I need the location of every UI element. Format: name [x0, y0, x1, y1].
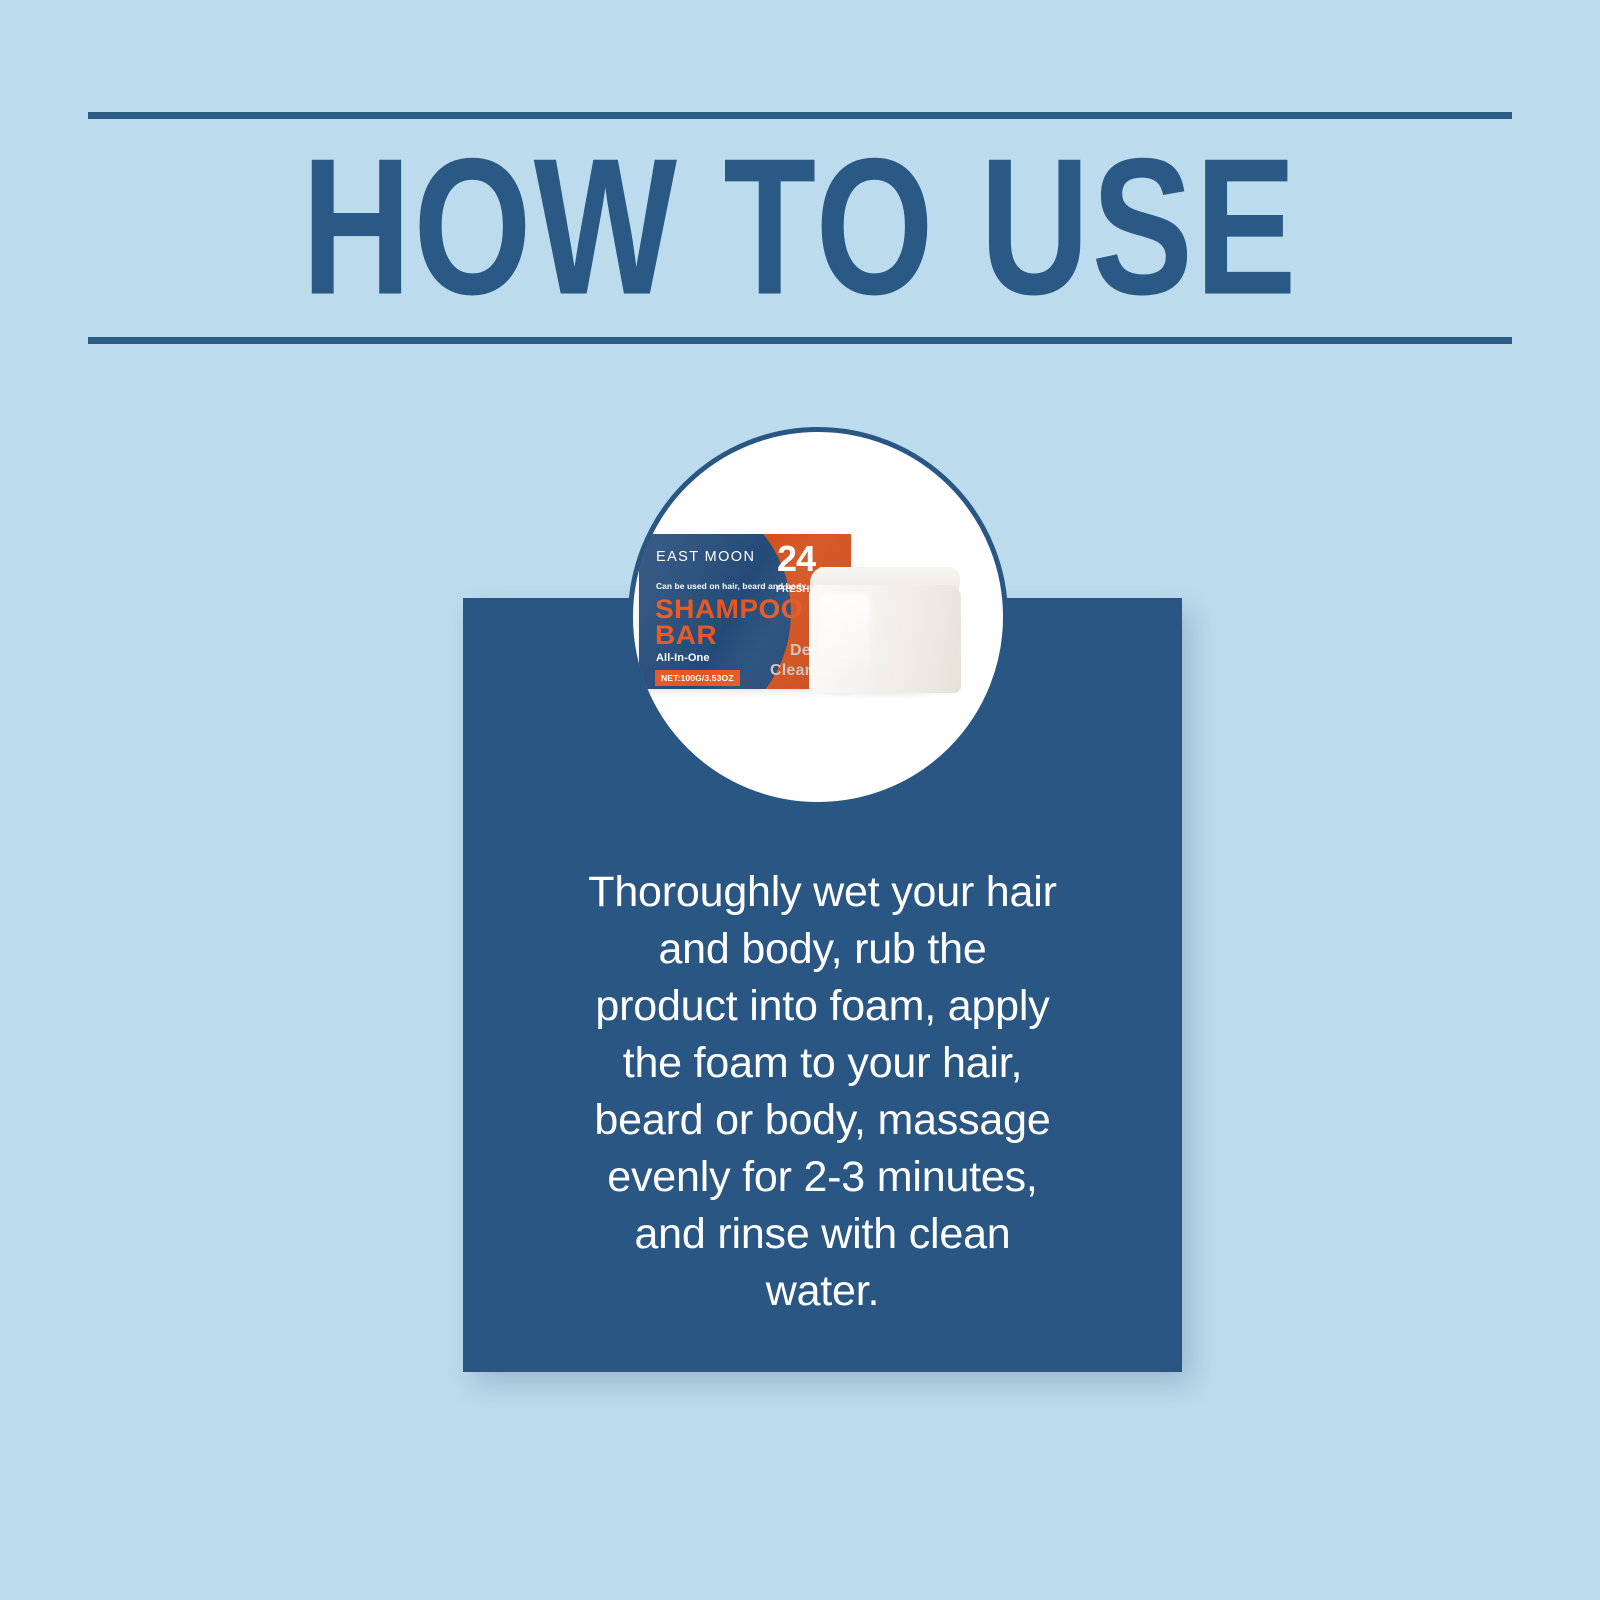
soap-bar	[809, 567, 961, 693]
soap-bar-highlight	[819, 593, 871, 687]
header-rule-bottom	[88, 337, 1512, 344]
page-title: HOW TO USE	[88, 119, 1512, 334]
instruction-text: Thoroughly wet your hair and body, rub t…	[588, 864, 1058, 1320]
product-image-medallion: EAST MOON Can be used on hair, beard and…	[628, 427, 1008, 807]
page-header: HOW TO USE	[88, 112, 1512, 344]
product-photo: EAST MOON Can be used on hair, beard and…	[633, 432, 1003, 802]
